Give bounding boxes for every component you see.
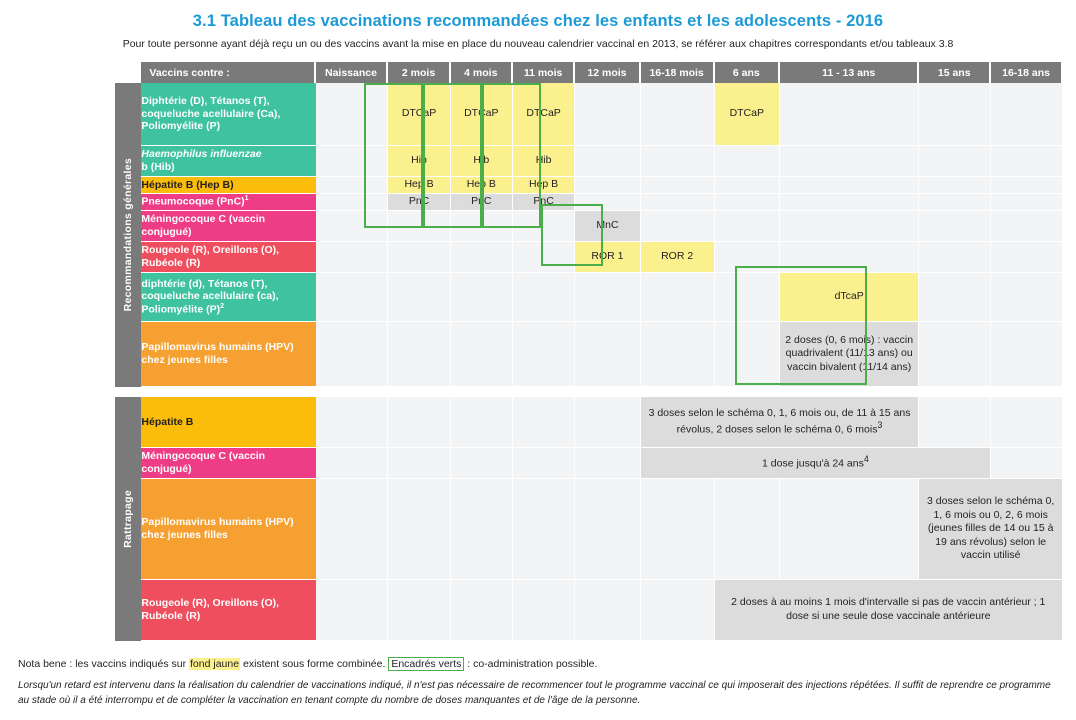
cell-rat-hepb-12-mois (575, 397, 640, 448)
cell-dtcap-4-mois: DTCaP (451, 83, 513, 146)
cell-mnc-16-18-ans (991, 211, 1063, 242)
section-label-recommandations-generales: Recommandations générales (115, 83, 141, 387)
column-header-naissance: Naissance (316, 62, 389, 83)
cell-pnc-16-18-ans (991, 194, 1063, 211)
vaccine-label-rattrapage-ror: Rougeole (R), Oreillons (O), Rubéole (R) (141, 580, 315, 641)
cell-hpv-15-ans (919, 322, 991, 387)
legend-middle: existent sous forme combinée. (240, 658, 388, 670)
legend-line: Nota bene : les vaccins indiqués sur fon… (18, 658, 1058, 670)
cell-dtcap2-16-18-mois (641, 273, 715, 322)
cell-pnc-12-mois (575, 194, 640, 211)
cell-dtcap-6-ans: DTCaP (715, 83, 780, 146)
cell-dtcap-12-mois (575, 83, 640, 146)
cell-rat-hepb-16-18-ans (991, 397, 1063, 448)
cell-mnc-11-mois (513, 211, 575, 242)
cell-rat-hepb-span: 3 doses selon le schéma 0, 1, 6 mois ou,… (641, 397, 920, 448)
cell-rat-hpv-12-mois (575, 479, 640, 580)
cell-hpv-naissance (316, 322, 389, 387)
vaccine-label-hib: Haemophilus influenzae b (Hib) (141, 146, 315, 177)
cell-rat-mnc-11-mois (513, 448, 575, 479)
vaccine-label-hpv: Papillomavirus humains (HPV) chez jeunes… (141, 322, 315, 387)
column-header-6-ans: 6 ans (715, 62, 780, 83)
cell-ror-2-mois (388, 242, 450, 273)
cell-ror-15-ans (919, 242, 991, 273)
cell-hib-2-mois: Hib (388, 146, 450, 177)
cell-hepb-naissance (316, 177, 389, 194)
legend-notes: Nota bene : les vaccins indiqués sur fon… (18, 658, 1058, 708)
vaccine-label-rattrapage-hpv: Papillomavirus humains (HPV) chez jeunes… (141, 479, 315, 580)
cell-hib-15-ans (919, 146, 991, 177)
cell-dtcap2-6-ans (715, 273, 780, 322)
cell-rat-mnc-2-mois (388, 448, 450, 479)
table-header-row: Vaccins contre : Naissance 2 mois 4 mois… (115, 62, 1063, 83)
cell-hepb-15-ans (919, 177, 991, 194)
cell-hepb-2-mois: Hep B (388, 177, 450, 194)
legend-suffix: : co-administration possible. (464, 658, 597, 670)
cell-hpv-16-18-ans (991, 322, 1063, 387)
table-row: Rougeole (R), Oreillons (O), Rubéole (R)… (115, 580, 1063, 641)
page-title: 3.1 Tableau des vaccinations recommandée… (0, 0, 1076, 31)
section-label-rattrapage: Rattrapage (115, 397, 141, 641)
vaccine-label-rattrapage-hepatite-b: Hépatite B (141, 397, 315, 448)
cell-hib-6-ans (715, 146, 780, 177)
cell-rat-mnc-16-18-ans (991, 448, 1063, 479)
cell-hpv-2-mois (388, 322, 450, 387)
cell-rat-mnc-4-mois (451, 448, 513, 479)
cell-hib-12-mois (575, 146, 640, 177)
cell-mnc-15-ans (919, 211, 991, 242)
cell-hepb-6-ans (715, 177, 780, 194)
cell-hib-16-18-mois (641, 146, 715, 177)
cell-dtcap2-naissance (316, 273, 389, 322)
cell-rat-ror-12-mois (575, 580, 640, 641)
column-header-2-mois: 2 mois (388, 62, 450, 83)
legend-prefix: Nota bene : les vaccins indiqués sur (18, 658, 189, 670)
cell-rat-hpv-span: 3 doses selon le schéma 0, 1, 6 mois ou … (919, 479, 1063, 580)
cell-pnc-naissance (316, 194, 389, 211)
cell-rat-hepb-15-ans (919, 397, 991, 448)
cell-dtcap2-16-18-ans (991, 273, 1063, 322)
cell-mnc-12-mois: MnC (575, 211, 640, 242)
cell-dtcap-16-18-ans (991, 83, 1063, 146)
vaccine-label-hepatite-b: Hépatite B (Hep B) (141, 177, 315, 194)
cell-hib-4-mois: Hib (451, 146, 513, 177)
schedule-table-zone: Vaccins contre : Naissance 2 mois 4 mois… (115, 62, 1063, 641)
cell-hib-11-13-ans (780, 146, 919, 177)
cell-dtcap2-11-13-ans: dTcaP (780, 273, 919, 322)
table-row: Méningocoque C (vaccin conjugué) MnC (115, 211, 1063, 242)
cell-ror-naissance (316, 242, 389, 273)
cell-dtcap2-11-mois (513, 273, 575, 322)
cell-rat-ror-4-mois (451, 580, 513, 641)
table-row: Papillomavirus humains (HPV) chez jeunes… (115, 479, 1063, 580)
cell-ror-11-mois (513, 242, 575, 273)
table-row: Hépatite B (Hep B) Hep B Hep B Hep B (115, 177, 1063, 194)
cell-rat-hpv-4-mois (451, 479, 513, 580)
table-row: Méningocoque C (vaccin conjugué) 1 dose … (115, 448, 1063, 479)
cell-rat-hpv-16-18-mois (641, 479, 715, 580)
cell-rat-ror-16-18-mois (641, 580, 715, 641)
page-subtitle: Pour toute personne ayant déjà reçu un o… (0, 31, 1076, 50)
cell-dtcap-11-13-ans (780, 83, 919, 146)
cell-mnc-6-ans (715, 211, 780, 242)
cell-ror1-12-mois: ROR 1 (575, 242, 640, 273)
cell-rat-hpv-11-mois (513, 479, 575, 580)
table-row: Haemophilus influenzae b (Hib) Hib Hib H… (115, 146, 1063, 177)
column-header-12-mois: 12 mois (575, 62, 640, 83)
column-header-4-mois: 4 mois (451, 62, 513, 83)
column-header-11-mois: 11 mois (513, 62, 575, 83)
cell-rat-mnc-span: 1 dose jusqu'à 24 ans4 (641, 448, 991, 479)
cell-hib-naissance (316, 146, 389, 177)
cell-hpv-16-18-mois (641, 322, 715, 387)
cell-ror-16-18-ans (991, 242, 1063, 273)
cell-rat-ror-naissance (316, 580, 389, 641)
cell-rat-hepb-4-mois (451, 397, 513, 448)
cell-rat-hpv-11-13-ans (780, 479, 919, 580)
vaccine-label-rattrapage-meningocoque-c: Méningocoque C (vaccin conjugué) (141, 448, 315, 479)
cell-hepb-4-mois: Hep B (451, 177, 513, 194)
cell-mnc-naissance (316, 211, 389, 242)
cell-pnc-11-13-ans (780, 194, 919, 211)
table-row: diphtérie (d), Tétanos (T), coqueluche a… (115, 273, 1063, 322)
column-header-16-18-mois: 16-18 mois (641, 62, 715, 83)
vaccine-label-meningocoque-c: Méningocoque C (vaccin conjugué) (141, 211, 315, 242)
cell-rat-mnc-12-mois (575, 448, 640, 479)
cell-mnc-16-18-mois (641, 211, 715, 242)
cell-hpv-11-mois (513, 322, 575, 387)
vaccination-schedule-table: Vaccins contre : Naissance 2 mois 4 mois… (115, 62, 1063, 641)
cell-hpv-6-ans (715, 322, 780, 387)
cell-hpv-11-13-ans: 2 doses (0, 6 mois) : vaccin quadrivalen… (780, 322, 919, 387)
cell-rat-hepb-11-mois (513, 397, 575, 448)
section-gap (115, 387, 1063, 397)
cell-pnc-15-ans (919, 194, 991, 211)
cell-rat-mnc-naissance (316, 448, 389, 479)
column-header-15-ans: 15 ans (919, 62, 991, 83)
cell-hib-11-mois: Hib (513, 146, 575, 177)
cell-hepb-12-mois (575, 177, 640, 194)
column-header-vaccine: Vaccins contre : (141, 62, 315, 83)
cell-pnc-2-mois: PnC (388, 194, 450, 211)
table-row: Rougeole (R), Oreillons (O), Rubéole (R)… (115, 242, 1063, 273)
cell-ror-11-13-ans (780, 242, 919, 273)
cell-hepb-11-mois: Hep B (513, 177, 575, 194)
cell-rat-hpv-6-ans (715, 479, 780, 580)
legend-yellow-term: fond jaune (189, 658, 240, 670)
cell-dtcap-naissance (316, 83, 389, 146)
cell-hib-16-18-ans (991, 146, 1063, 177)
table-row: Pneumocoque (PnC)1 PnC PnC PnC (115, 194, 1063, 211)
vaccine-label-dtcap-rappel: diphtérie (d), Tétanos (T), coqueluche a… (141, 273, 315, 322)
cell-pnc-11-mois: PnC (513, 194, 575, 211)
legend-green-term: Encadrés verts (388, 657, 464, 671)
cell-ror2-16-18-mois: ROR 2 (641, 242, 715, 273)
cell-dtcap2-2-mois (388, 273, 450, 322)
cell-dtcap2-15-ans (919, 273, 991, 322)
cell-pnc-6-ans (715, 194, 780, 211)
cell-rat-hpv-2-mois (388, 479, 450, 580)
vaccine-label-pneumocoque: Pneumocoque (PnC)1 (141, 194, 315, 211)
cell-pnc-16-18-mois (641, 194, 715, 211)
cell-dtcap2-4-mois (451, 273, 513, 322)
cell-mnc-2-mois (388, 211, 450, 242)
vaccine-label-ror: Rougeole (R), Oreillons (O), Rubéole (R) (141, 242, 315, 273)
table-row: Rattrapage Hépatite B 3 doses selon le s… (115, 397, 1063, 448)
cell-dtcap-11-mois: DTCaP (513, 83, 575, 146)
cell-dtcap-16-18-mois (641, 83, 715, 146)
vaccine-label-dtcap: Diphtérie (D), Tétanos (T), coqueluche a… (141, 83, 315, 146)
cell-dtcap-15-ans (919, 83, 991, 146)
table-row: Recommandations générales Diphtérie (D),… (115, 83, 1063, 146)
column-header-11-13-ans: 11 - 13 ans (780, 62, 919, 83)
cell-ror-6-ans (715, 242, 780, 273)
cell-rat-hpv-naissance (316, 479, 389, 580)
cell-rat-hepb-naissance (316, 397, 389, 448)
cell-dtcap-2-mois: DTCaP (388, 83, 450, 146)
cell-hepb-16-18-mois (641, 177, 715, 194)
cell-hpv-12-mois (575, 322, 640, 387)
cell-hepb-11-13-ans (780, 177, 919, 194)
column-header-16-18-ans: 16-18 ans (991, 62, 1063, 83)
cell-rat-ror-span: 2 doses à au moins 1 mois d'intervalle s… (715, 580, 1063, 641)
cell-rat-ror-2-mois (388, 580, 450, 641)
cell-mnc-11-13-ans (780, 211, 919, 242)
cell-pnc-4-mois: PnC (451, 194, 513, 211)
legend-paragraph: Lorsqu'un retard est intervenu dans la r… (18, 679, 1058, 708)
section-label-spacer (115, 62, 141, 83)
cell-dtcap2-12-mois (575, 273, 640, 322)
cell-rat-hepb-2-mois (388, 397, 450, 448)
cell-rat-ror-11-mois (513, 580, 575, 641)
cell-hepb-16-18-ans (991, 177, 1063, 194)
cell-ror-4-mois (451, 242, 513, 273)
cell-mnc-4-mois (451, 211, 513, 242)
table-row: Papillomavirus humains (HPV) chez jeunes… (115, 322, 1063, 387)
cell-hpv-4-mois (451, 322, 513, 387)
